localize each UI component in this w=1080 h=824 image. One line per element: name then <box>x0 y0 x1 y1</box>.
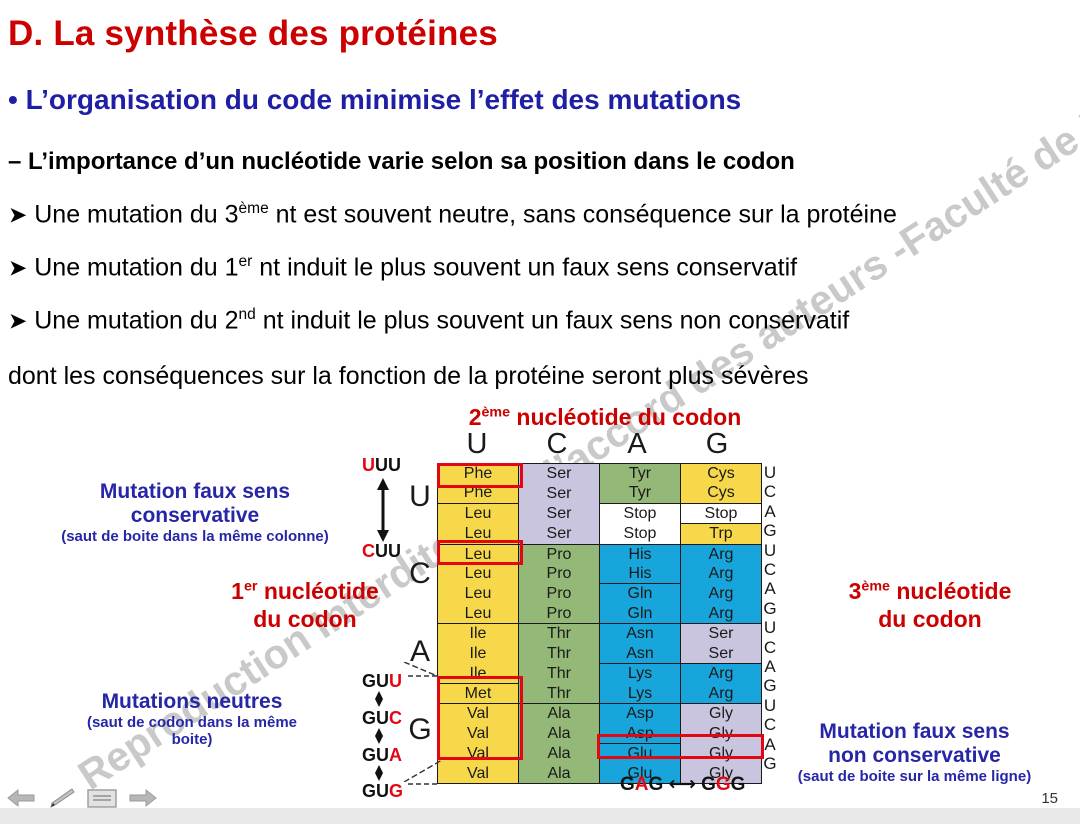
codon-marker-gua: GUA <box>362 745 402 766</box>
codon-table-row: LeuSerStopStop <box>438 503 762 523</box>
diamond-arrow-icon-2 <box>372 728 386 744</box>
third-nt-title-line2: du codon <box>790 606 1070 634</box>
codon-uuu-rest: UU <box>375 455 401 475</box>
codon-cell-GAC: Asp <box>600 724 681 744</box>
third-nucleotide-header-7: G <box>761 599 779 618</box>
codon-cuu-red: C <box>362 541 375 561</box>
vertical-double-arrow-icon <box>372 478 394 542</box>
first-nt-title-line2: du codon <box>140 606 470 634</box>
ggg-red: G <box>716 774 731 795</box>
bullet-marker-icon: ➤ <box>8 307 27 333</box>
non-conservative-line2: non conservative <box>752 744 1077 768</box>
codon-cell-UAC: Tyr <box>600 483 681 503</box>
codon-table-row: IleThrAsnSer <box>438 644 762 664</box>
codon-cell-AGC: Ser <box>681 644 762 664</box>
neutral-note1: (saut de codon dans la même <box>22 714 362 731</box>
first-nt-title-a: 1 <box>231 578 244 604</box>
codon-marker-gag-ggg: GAG ⟷ GGG <box>620 773 745 796</box>
third-nucleotide-header-1: C <box>761 482 779 501</box>
codon-table-row: IleThrAsnSer <box>438 624 762 644</box>
codon-cuu-rest: UU <box>375 541 401 561</box>
codon-cell-UCG: Ser <box>519 524 600 544</box>
guc-pre: GU <box>362 708 389 728</box>
third-nucleotide-header-3: G <box>761 521 779 540</box>
codon-cell-CUU: Leu <box>438 544 519 564</box>
codon-cell-AAA: Lys <box>600 664 681 684</box>
conservative-note: (saut de boite dans la même colonne) <box>20 528 370 545</box>
guu-red: U <box>389 671 402 691</box>
codon-marker-guu: GUU <box>362 671 402 692</box>
codon-cell-UUC: Phe <box>438 483 519 503</box>
codon-cell-CAC: His <box>600 564 681 584</box>
diamond-arrow-icon-3 <box>372 765 386 781</box>
codon-cell-UAG: Stop <box>600 524 681 544</box>
codon-cell-GGC: Gly <box>681 724 762 744</box>
slide-heading-level1: • L’organisation du code minimise l’effe… <box>8 84 741 116</box>
annotation-conservative: Mutation faux sens conservative (saut de… <box>20 480 370 546</box>
third-nucleotide-header-4: U <box>761 541 779 560</box>
second-nucleotide-header-U: U <box>437 428 517 461</box>
codon-cell-CGU: Arg <box>681 544 762 564</box>
bullet-item-2: ➤ Une mutation du 1er nt induit le plus … <box>8 253 797 282</box>
first-nucleotide-title: 1er nucléotide du codon <box>140 578 470 633</box>
third-nucleotide-header-12: U <box>761 696 779 715</box>
codon-cell-ACG: Thr <box>519 683 600 703</box>
codon-cell-GAU: Asp <box>600 704 681 724</box>
second-nt-title-b: nucléotide du codon <box>510 404 741 430</box>
second-nt-title-sup: ème <box>481 404 510 420</box>
page-number: 15 <box>1041 790 1058 807</box>
slide-menu-icon[interactable] <box>86 786 118 810</box>
codon-cell-CGC: Arg <box>681 564 762 584</box>
first-nt-title-sup: er <box>244 578 257 594</box>
codon-marker-cuu: CUU <box>362 541 401 562</box>
codon-cell-GGU: Gly <box>681 704 762 724</box>
codon-cell-GGA: Gly <box>681 744 762 764</box>
third-nucleotide-header-11: G <box>761 676 779 695</box>
codon-cell-CGA: Arg <box>681 584 762 604</box>
codon-cell-UAA: Stop <box>600 503 681 523</box>
codon-cell-AAU: Asn <box>600 624 681 644</box>
codon-marker-guc: GUC <box>362 708 402 729</box>
codon-cell-UGG: Trp <box>681 524 762 544</box>
conservative-line1: Mutation faux sens <box>20 480 370 504</box>
codon-cell-CCG: Pro <box>519 604 600 624</box>
codon-cell-CAA: Gln <box>600 584 681 604</box>
codon-table-row: PheSerTyrCys <box>438 464 762 484</box>
codon-cell-ACA: Thr <box>519 664 600 684</box>
codon-cell-ACU: Thr <box>519 624 600 644</box>
codon-cell-GAA: Glu <box>600 744 681 764</box>
neutral-line1: Mutations neutres <box>22 690 362 714</box>
first-nt-title-b: nucléotide <box>257 578 378 604</box>
annotation-non-conservative: Mutation faux sens non conservative (sau… <box>752 720 1077 786</box>
first-nt-title-line1: 1er nucléotide <box>140 578 470 606</box>
third-nt-title-line1: 3ème nucléotide <box>790 578 1070 606</box>
codon-cell-UGC: Cys <box>681 483 762 503</box>
horizontal-double-arrow-icon: ⟷ <box>669 774 696 795</box>
codon-cell-CCU: Pro <box>519 544 600 564</box>
codon-table-row: LeuSerStopTrp <box>438 524 762 544</box>
codon-marker-uuu: UUU <box>362 455 401 476</box>
codon-cell-CAG: Gln <box>600 604 681 624</box>
codon-cell-AGA: Arg <box>681 664 762 684</box>
slide-title: D. La synthèse des protéines <box>8 14 498 54</box>
codon-cell-ACC: Thr <box>519 644 600 664</box>
codon-table-row: LeuProHisArg <box>438 564 762 584</box>
slide-canvas: Reproduction Interdite sans l’accord des… <box>0 0 1080 808</box>
next-slide-icon[interactable] <box>128 786 158 810</box>
bullet-marker-icon: ➤ <box>8 254 27 280</box>
codon-cell-CCC: Pro <box>519 564 600 584</box>
bullet-text-3a: Une mutation du 2 <box>34 306 238 334</box>
codon-uuu-red: U <box>362 455 375 475</box>
ggg-post: G <box>731 774 746 795</box>
codon-table-row: LeuProHisArg <box>438 544 762 564</box>
presentation-controls <box>6 786 158 810</box>
codon-cell-AAC: Asn <box>600 644 681 664</box>
codon-cell-CAU: His <box>600 544 681 564</box>
bullet-sup-2: er <box>239 253 253 270</box>
gua-pre: GU <box>362 745 389 765</box>
codon-cell-AUC: Ile <box>438 644 519 664</box>
codon-cell-AAG: Lys <box>600 683 681 703</box>
codon-marker-gug: GUG <box>362 781 403 802</box>
codon-cell-GCG: Ala <box>519 764 600 784</box>
codon-cell-UCA: Ser <box>519 503 600 523</box>
third-nt-title-sup: ème <box>861 578 890 594</box>
second-nucleotide-title: 2ème nucléotide du codon <box>430 404 780 431</box>
third-nucleotide-header-6: A <box>761 579 779 598</box>
codon-table-row: PheSerTyrCys <box>438 483 762 503</box>
second-nucleotide-header-C: C <box>517 428 597 461</box>
dashed-connector-upper <box>404 662 444 686</box>
bullet-marker-icon: ➤ <box>8 201 27 227</box>
third-nt-title-b: nucléotide <box>890 578 1011 604</box>
codon-cell-AGU: Ser <box>681 624 762 644</box>
third-nucleotide-header-2: A <box>761 502 779 521</box>
codon-cell-UCC: Ser <box>519 483 600 503</box>
gag-post: G <box>649 774 664 795</box>
non-conservative-line1: Mutation faux sens <box>752 720 1077 744</box>
codon-cell-GCC: Ala <box>519 724 600 744</box>
codon-cell-UUA: Leu <box>438 503 519 523</box>
bullet-item-3: ➤ Une mutation du 2nd nt induit le plus … <box>8 306 849 335</box>
bullet-sup-3: nd <box>239 306 256 323</box>
first-nucleotide-header-U: U <box>405 480 435 514</box>
bullet-sup-1: ème <box>239 200 269 217</box>
gua-red: A <box>389 745 402 765</box>
non-conservative-note: (saut de boite sur la même ligne) <box>752 768 1077 785</box>
codon-table-row: LeuProGlnArg <box>438 584 762 604</box>
codon-cell-UGA: Stop <box>681 503 762 523</box>
neutral-note2: boite) <box>22 731 362 748</box>
slide-heading-level2: – L’importance d’un nucléotide varie sel… <box>8 148 795 176</box>
bullet-text-2a: Une mutation du 1 <box>34 253 238 281</box>
codon-cell-CCA: Pro <box>519 584 600 604</box>
gag-red: A <box>635 774 649 795</box>
second-nucleotide-header-G: G <box>677 428 757 461</box>
guu-pre: GU <box>362 671 389 691</box>
gug-red: G <box>389 781 403 801</box>
codon-table-row: LeuProGlnArg <box>438 604 762 624</box>
ggg-pre: G <box>701 774 716 795</box>
third-nucleotide-header-0: U <box>761 463 779 482</box>
codon-cell-CGG: Arg <box>681 604 762 624</box>
third-nucleotide-header-5: C <box>761 560 779 579</box>
codon-cell-UUU: Phe <box>438 464 519 484</box>
third-nt-title-a: 3 <box>849 578 862 604</box>
codon-cell-AGG: Arg <box>681 683 762 703</box>
previous-slide-icon[interactable] <box>6 786 36 810</box>
third-nucleotide-title: 3ème nucléotide du codon <box>790 578 1070 633</box>
dashed-connector-lower <box>404 752 444 782</box>
second-nucleotide-header-A: A <box>597 428 677 461</box>
codon-cell-UUG: Leu <box>438 524 519 544</box>
codon-cell-UAU: Tyr <box>600 464 681 484</box>
bullet-text-2b: nt induit le plus souvent un faux sens c… <box>252 253 797 281</box>
codon-cell-UGU: Cys <box>681 464 762 484</box>
codon-cell-GCA: Ala <box>519 744 600 764</box>
presentation-toolbar <box>0 808 1080 824</box>
bullet-text-1b: nt est souvent neutre, sans conséquence … <box>269 200 897 228</box>
closing-line: dont les conséquences sur la fonction de… <box>8 362 809 391</box>
third-nucleotide-header-8: U <box>761 618 779 637</box>
bullet-text-1a: Une mutation du 3 <box>34 200 238 228</box>
annotation-neutral: Mutations neutres (saut de codon dans la… <box>22 690 362 749</box>
pen-tool-icon[interactable] <box>46 786 76 810</box>
conservative-line2: conservative <box>20 504 370 528</box>
diamond-arrow-icon-1 <box>372 691 386 707</box>
bullet-item-1: ➤ Une mutation du 3ème nt est souvent ne… <box>8 200 897 229</box>
codon-cell-GCU: Ala <box>519 704 600 724</box>
guc-red: C <box>389 708 402 728</box>
codon-cell-UCU: Ser <box>519 464 600 484</box>
bullet-text-3b: nt induit le plus souvent un faux sens n… <box>256 306 849 334</box>
third-nucleotide-header-10: A <box>761 657 779 676</box>
third-nucleotide-header-9: C <box>761 638 779 657</box>
gag-pre: G <box>620 774 635 795</box>
second-nt-title-a: 2 <box>469 404 482 430</box>
gug-pre: GU <box>362 781 389 801</box>
